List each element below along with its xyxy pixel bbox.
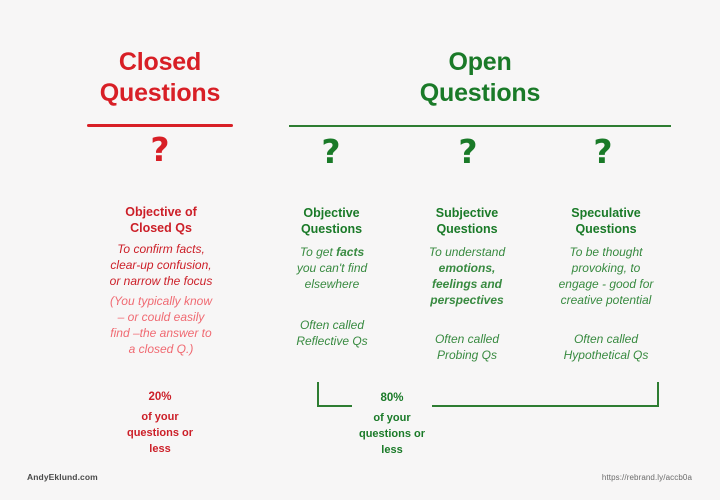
open-bracket-left-tick bbox=[317, 382, 319, 407]
open-column-1-alias-name: Reflective Qs bbox=[273, 334, 391, 350]
closed-column-body: To confirm facts, clear-up confusion, or… bbox=[78, 242, 244, 290]
open-column-3-alias-name: Hypothetical Qs bbox=[540, 348, 672, 364]
open-column-2-body: To understand emotions, feelings and per… bbox=[407, 245, 527, 309]
open-column-2-title: Subjective Questions bbox=[413, 205, 521, 237]
open-column-1-title: Objective Questions bbox=[279, 205, 384, 237]
closed-body-line-2: clear-up confusion, bbox=[78, 258, 244, 274]
open-column-1-title-line-2: Questions bbox=[279, 221, 384, 237]
open-column-1-alias: Often called Reflective Qs bbox=[273, 318, 391, 350]
closed-percent-caption-line-2: questions or bbox=[105, 426, 215, 442]
closed-percent-value: 20% bbox=[110, 391, 210, 405]
open-column-3-body-line-3: engage - good for bbox=[540, 277, 672, 293]
open-column-2-alias: Often called Probing Qs bbox=[407, 332, 527, 364]
open-column-1-body-strong: facts bbox=[336, 245, 364, 259]
open-column-3-alias: Often called Hypothetical Qs bbox=[540, 332, 672, 364]
open-column-3-title-line-1: Speculative bbox=[546, 205, 666, 221]
open-questions-heading: Open Questions bbox=[385, 47, 575, 109]
open-column-2-body-strong: emotions, bbox=[439, 261, 496, 275]
open-column-2-title-line-1: Subjective bbox=[413, 205, 521, 221]
open-column-1-body-line-2: you can't find bbox=[273, 261, 391, 277]
open-column-1-title-line-1: Objective bbox=[279, 205, 384, 221]
closed-column-title: Objective of Closed Qs bbox=[85, 204, 237, 236]
open-column-3-often-called: Often called bbox=[540, 332, 672, 348]
open-percent-caption-line-1: of your bbox=[337, 411, 447, 427]
open-column-2-body-strong-2: feelings and bbox=[432, 277, 502, 291]
open-column-2-alias-name: Probing Qs bbox=[407, 348, 527, 364]
open-column-3-body: To be thought provoking, to engage - goo… bbox=[540, 245, 672, 309]
open-question-mark-icon-1: ? bbox=[311, 135, 351, 168]
open-column-1-often-called: Often called bbox=[273, 318, 391, 334]
open-column-1-body: To get facts you can't find elsewhere bbox=[273, 245, 391, 293]
open-column-2-body-line-1: To understand bbox=[407, 245, 527, 261]
open-column-1-body-line-3: elsewhere bbox=[273, 277, 391, 293]
closed-body-line-3: or narrow the focus bbox=[78, 274, 244, 290]
open-column-2-body-line-3: feelings and bbox=[407, 277, 527, 293]
closed-heading-line-1: Closed bbox=[65, 47, 255, 78]
closed-body-line-1: To confirm facts, bbox=[78, 242, 244, 258]
open-column-2-body-line-2: emotions, bbox=[407, 261, 527, 277]
closed-questions-heading: Closed Questions bbox=[65, 47, 255, 109]
open-column-2-title-line-2: Questions bbox=[413, 221, 521, 237]
open-bracket-right-tick bbox=[657, 382, 659, 407]
closed-note-line-2: – or could easily bbox=[78, 310, 244, 326]
open-column-3-title: Speculative Questions bbox=[546, 205, 666, 237]
open-column-3-body-line-1: To be thought bbox=[540, 245, 672, 261]
closed-divider-rule bbox=[87, 124, 233, 127]
closed-column-note: (You typically know – or could easily fi… bbox=[78, 294, 244, 358]
open-percent-caption-line-3: less bbox=[337, 443, 447, 459]
closed-percent-caption: of your questions or less bbox=[105, 410, 215, 458]
open-question-mark-icon-2: ? bbox=[448, 135, 488, 168]
closed-title-line-1: Objective of bbox=[85, 204, 237, 220]
closed-percent-caption-line-3: less bbox=[105, 442, 215, 458]
open-column-2-body-line-4: perspectives bbox=[407, 293, 527, 309]
footer-link[interactable]: https://rebrand.ly/accb0a bbox=[470, 473, 692, 482]
open-column-1-body-line-1: To get facts bbox=[273, 245, 391, 261]
open-heading-line-2: Questions bbox=[385, 78, 575, 109]
open-column-3-body-line-2: provoking, to bbox=[540, 261, 672, 277]
closed-note-line-1: (You typically know bbox=[78, 294, 244, 310]
closed-question-mark-icon: ? bbox=[140, 133, 180, 166]
closed-heading-line-2: Questions bbox=[65, 78, 255, 109]
open-percent-value: 80% bbox=[342, 392, 442, 406]
open-percent-caption-line-2: questions or bbox=[337, 427, 447, 443]
closed-title-line-2: Closed Qs bbox=[85, 220, 237, 236]
footer-attribution: AndyEklund.com bbox=[27, 472, 207, 482]
closed-note-line-3: find –the answer to bbox=[78, 326, 244, 342]
closed-note-line-4: a closed Q.) bbox=[78, 342, 244, 358]
open-percent-caption: of your questions or less bbox=[337, 411, 447, 459]
open-heading-line-1: Open bbox=[385, 47, 575, 78]
open-column-1-body-pre: To get bbox=[300, 245, 336, 259]
open-divider-rule bbox=[289, 125, 671, 127]
open-column-2-body-strong-3: perspectives bbox=[430, 293, 503, 307]
infographic-canvas: Closed Questions ? Objective of Closed Q… bbox=[0, 0, 720, 500]
open-column-3-body-line-4: creative potential bbox=[540, 293, 672, 309]
open-column-2-often-called: Often called bbox=[407, 332, 527, 348]
open-question-mark-icon-3: ? bbox=[583, 135, 623, 168]
closed-percent-caption-line-1: of your bbox=[105, 410, 215, 426]
open-bracket-line-right bbox=[432, 405, 659, 407]
open-column-3-title-line-2: Questions bbox=[546, 221, 666, 237]
